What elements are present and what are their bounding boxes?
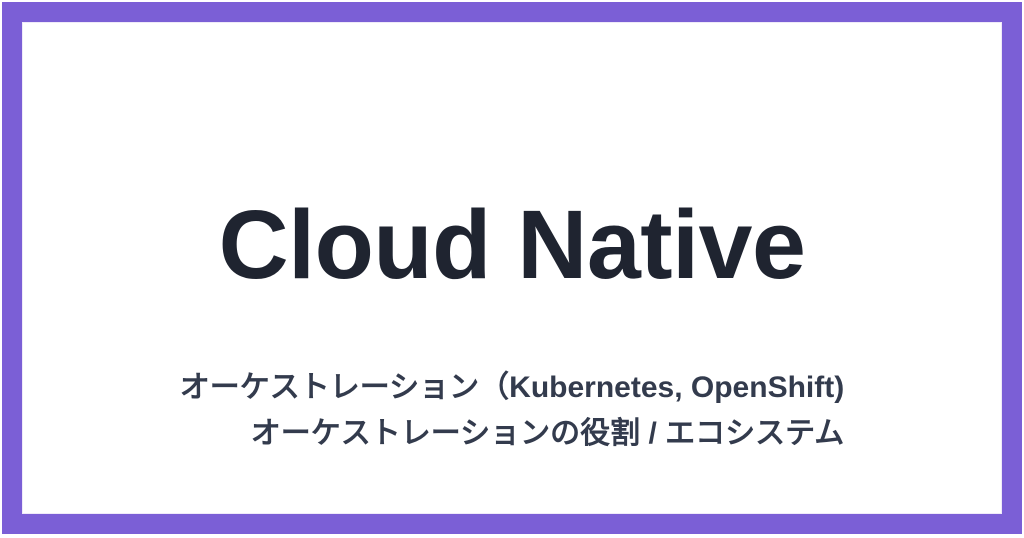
subtitle-line-2: オーケストレーションの役割 / エコシステム	[180, 411, 844, 457]
subtitle-block: オーケストレーション（Kubernetes, OpenShift) オーケストレ…	[22, 365, 1002, 456]
subtitle-lines: オーケストレーション（Kubernetes, OpenShift) オーケストレ…	[180, 365, 844, 456]
slide-canvas: Cloud Native オーケストレーション（Kubernetes, Open…	[0, 0, 1024, 538]
subtitle-line-1: オーケストレーション（Kubernetes, OpenShift)	[180, 365, 844, 411]
title-block: Cloud Native	[22, 196, 1002, 293]
slide-content: Cloud Native オーケストレーション（Kubernetes, Open…	[22, 22, 1002, 514]
slide-title: Cloud Native	[22, 196, 1002, 293]
